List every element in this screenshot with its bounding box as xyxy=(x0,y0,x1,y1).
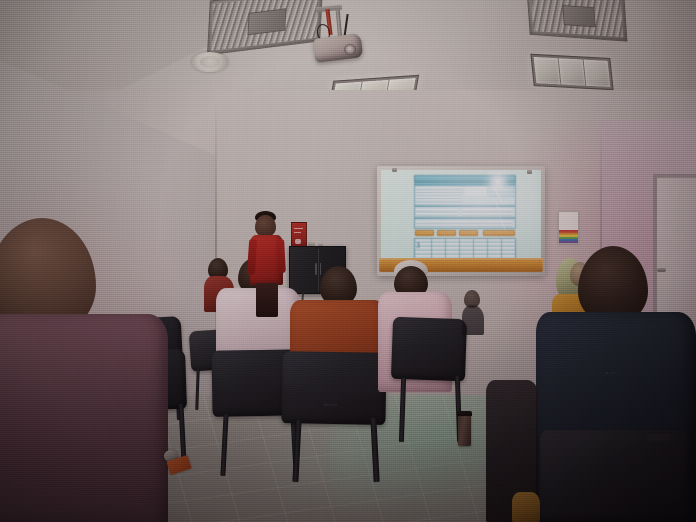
coffee-cup[interactable] xyxy=(458,414,471,446)
chair-occupied-2[interactable]: Sin Piel xyxy=(281,351,386,425)
diffuser-core xyxy=(248,8,287,36)
cabinet-handle-right[interactable] xyxy=(320,263,322,275)
screen-clip-left xyxy=(392,168,397,172)
wall-notice xyxy=(558,211,579,244)
slide-panel-summary-1 xyxy=(414,206,516,218)
slide-button-3 xyxy=(459,230,478,236)
chair-occupied-4[interactable] xyxy=(540,430,690,522)
slide-button-2 xyxy=(437,230,456,236)
chair-tag: Sin Piel xyxy=(324,404,337,407)
screen-clip-right xyxy=(527,170,532,174)
chair-occupied-3[interactable] xyxy=(391,317,467,382)
hvac-diffuser-right xyxy=(526,0,627,42)
troffer-light-right xyxy=(530,54,613,90)
legs xyxy=(256,283,278,317)
head xyxy=(255,215,276,237)
downlight-inner xyxy=(200,56,220,67)
shirt-back-logo: ⚹ ▫▫▫▫▫ xyxy=(606,372,617,376)
door-handle[interactable] xyxy=(657,268,666,272)
wall-notice-line-2 xyxy=(559,214,578,216)
diffuser-core xyxy=(562,5,596,27)
bag-yellow-strap xyxy=(512,492,540,522)
slide-panel-table xyxy=(414,182,516,206)
slide-detail-grid xyxy=(414,238,516,258)
slide-big-number: 3 xyxy=(416,242,420,250)
downlight xyxy=(192,52,228,72)
slide-button-1 xyxy=(415,230,434,236)
wall-notice-color-band xyxy=(559,230,578,243)
torso xyxy=(0,314,168,522)
slide-panel-summary-2 xyxy=(414,218,516,229)
torso xyxy=(462,305,484,335)
cabinet-door-seam xyxy=(318,249,319,291)
slide-button-4 xyxy=(483,230,515,236)
projected-slide: 3 xyxy=(410,174,518,258)
room-photo: 3 Sin Piel Sin P xyxy=(0,0,696,522)
projection-screen-surface: 3 xyxy=(381,170,541,259)
coffee-cup-lid xyxy=(457,411,472,416)
arm-right xyxy=(276,239,286,273)
troffer-panes xyxy=(534,57,611,87)
projector-lens xyxy=(344,44,356,55)
slide-title-text xyxy=(415,176,515,177)
slide-panel-header xyxy=(415,183,515,186)
slide-title-band xyxy=(414,175,516,182)
cabinet-handle-left[interactable] xyxy=(315,263,317,275)
